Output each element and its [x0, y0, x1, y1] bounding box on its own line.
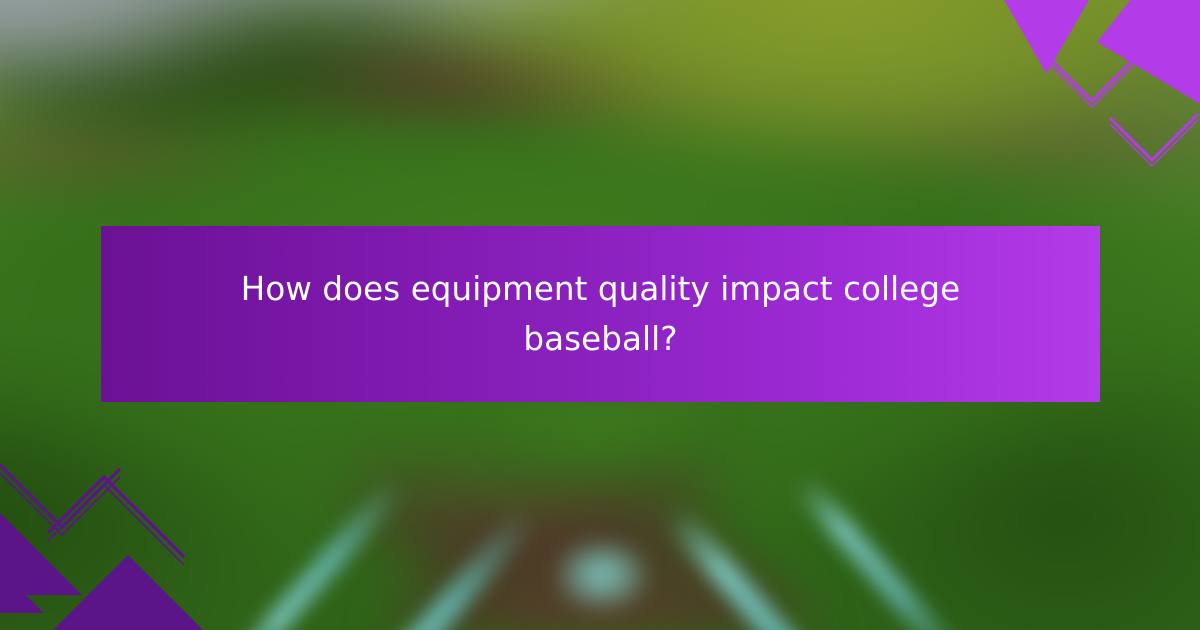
decoration-top-right: [1000, 0, 1200, 185]
share-card: How does equipment quality impact colleg…: [0, 0, 1200, 630]
decoration-bottom-left: [0, 415, 215, 630]
page-title: How does equipment quality impact colleg…: [228, 264, 973, 364]
outlined-chevron-up-icon: [0, 425, 120, 527]
outlined-chevron-up-large-inner-icon: [48, 485, 184, 565]
title-banner: How does equipment quality impact colleg…: [101, 226, 1100, 402]
home-plate-area: [556, 540, 648, 610]
filled-triangle-down-icon: [1003, 0, 1090, 74]
